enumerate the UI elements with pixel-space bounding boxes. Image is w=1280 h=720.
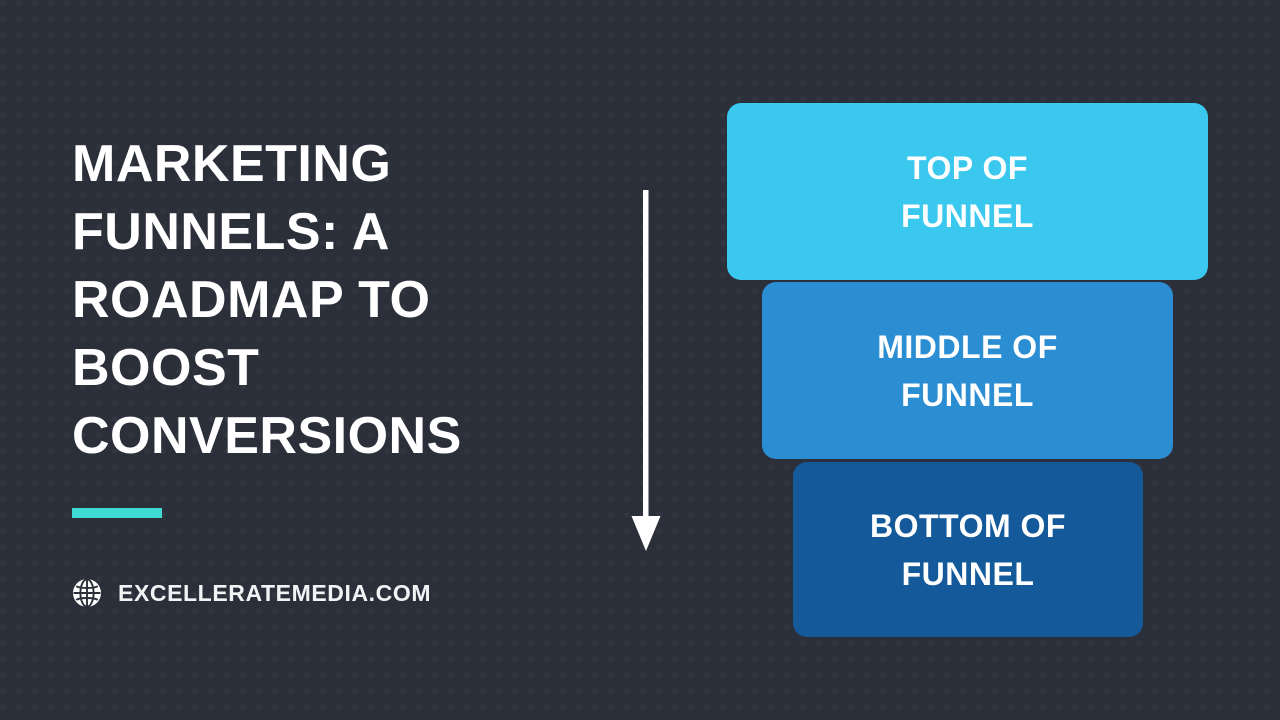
funnel-stage-bottom-label: BOTTOM OF FUNNEL [852,502,1084,598]
left-panel: MARKETING FUNNELS: A ROADMAP TO BOOST CO… [72,130,592,470]
globe-icon [72,578,102,608]
funnel-stage-top-label: TOP OF FUNNEL [883,144,1052,240]
page-title: MARKETING FUNNELS: A ROADMAP TO BOOST CO… [72,130,592,470]
funnel-stage-middle-label: MIDDLE OF FUNNEL [859,323,1075,419]
website-credit: EXCELLERATEMEDIA.COM [72,578,431,608]
slide-canvas: MARKETING FUNNELS: A ROADMAP TO BOOST CO… [0,0,1280,720]
accent-bar [72,508,162,518]
funnel-stage-top: TOP OF FUNNEL [727,103,1208,280]
website-url-label: EXCELLERATEMEDIA.COM [118,580,431,607]
funnel-stage-middle: MIDDLE OF FUNNEL [762,282,1173,459]
funnel-stage-bottom: BOTTOM OF FUNNEL [793,462,1143,637]
